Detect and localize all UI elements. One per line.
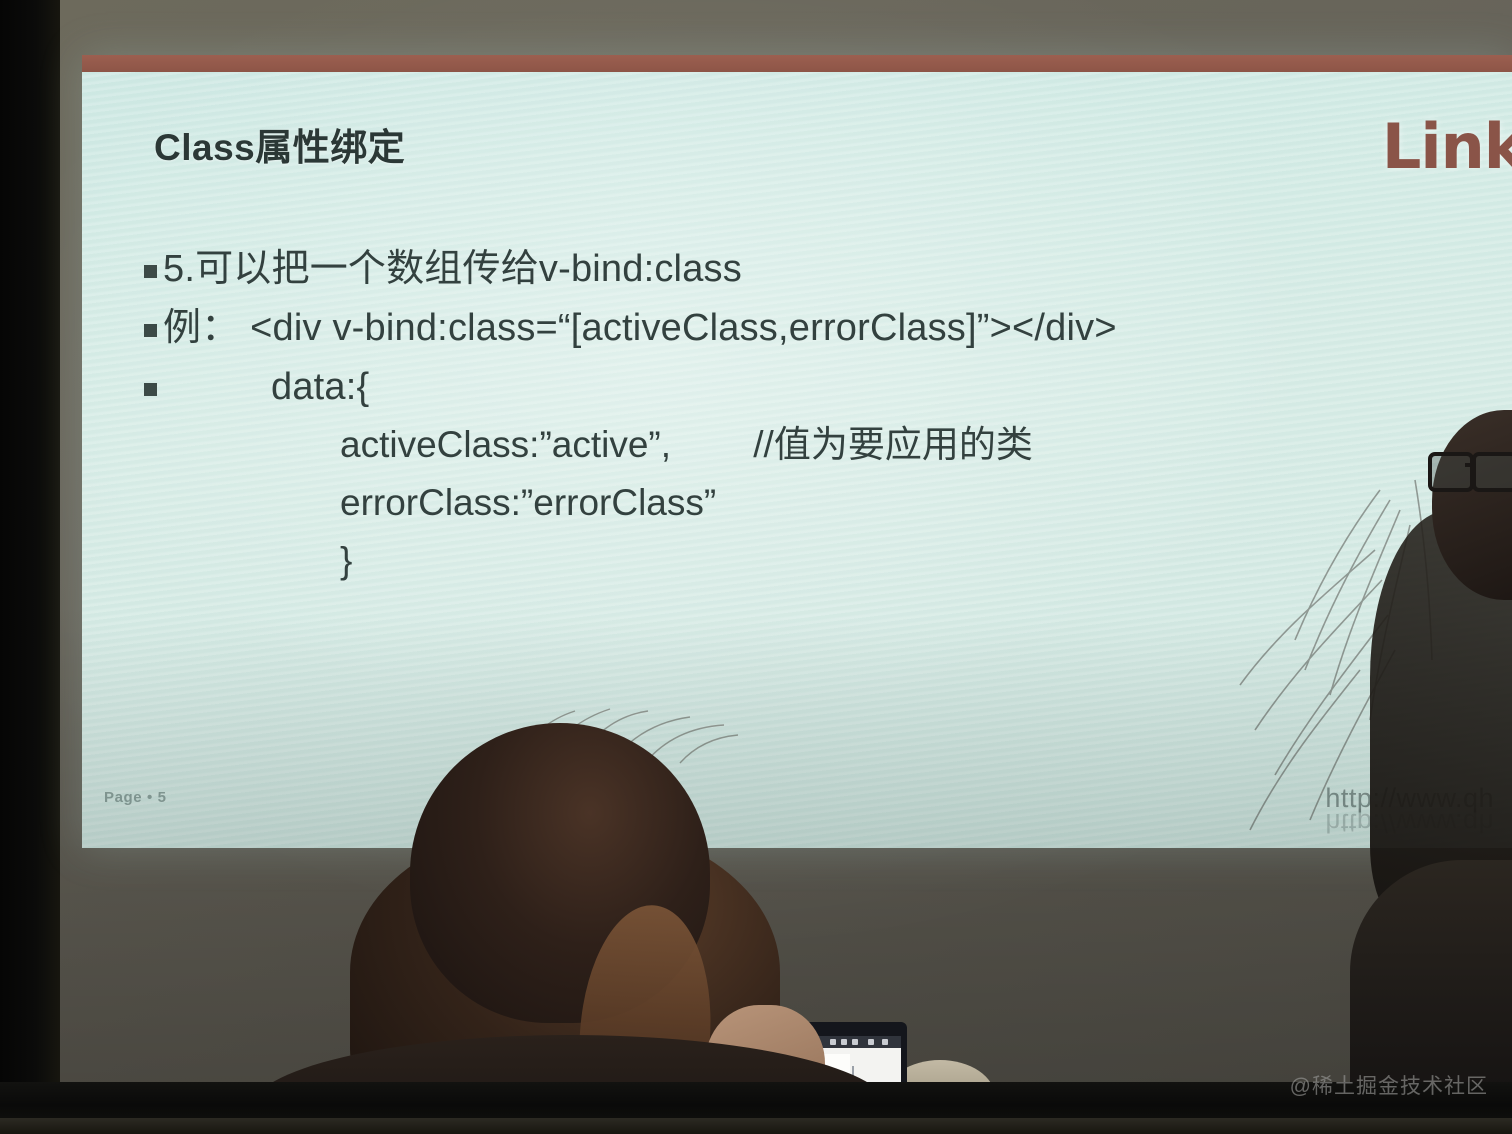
toolbar-icon-1 (830, 1039, 836, 1045)
toolbar-icon-3 (852, 1039, 858, 1045)
glasses-lens-left (1428, 452, 1474, 492)
toolbar-icon-5 (882, 1039, 888, 1045)
toolbar-icon-4 (868, 1039, 874, 1045)
toolbar-icon-2 (841, 1039, 847, 1045)
photo-scene: Link Class属性绑定 5.可以把一个数组传给v-bind:class 例… (0, 0, 1512, 1134)
glasses-lens-right (1472, 452, 1512, 492)
room-bottom-ledge (0, 1118, 1512, 1134)
slide-top-accent-bar (82, 55, 1512, 72)
person-right (1250, 390, 1512, 1134)
person-center (250, 705, 770, 1134)
room-dark-left-edge (0, 0, 60, 1134)
watermark: @稀土掘金技术社区 (1290, 1070, 1488, 1100)
glasses-icon (1428, 452, 1512, 486)
